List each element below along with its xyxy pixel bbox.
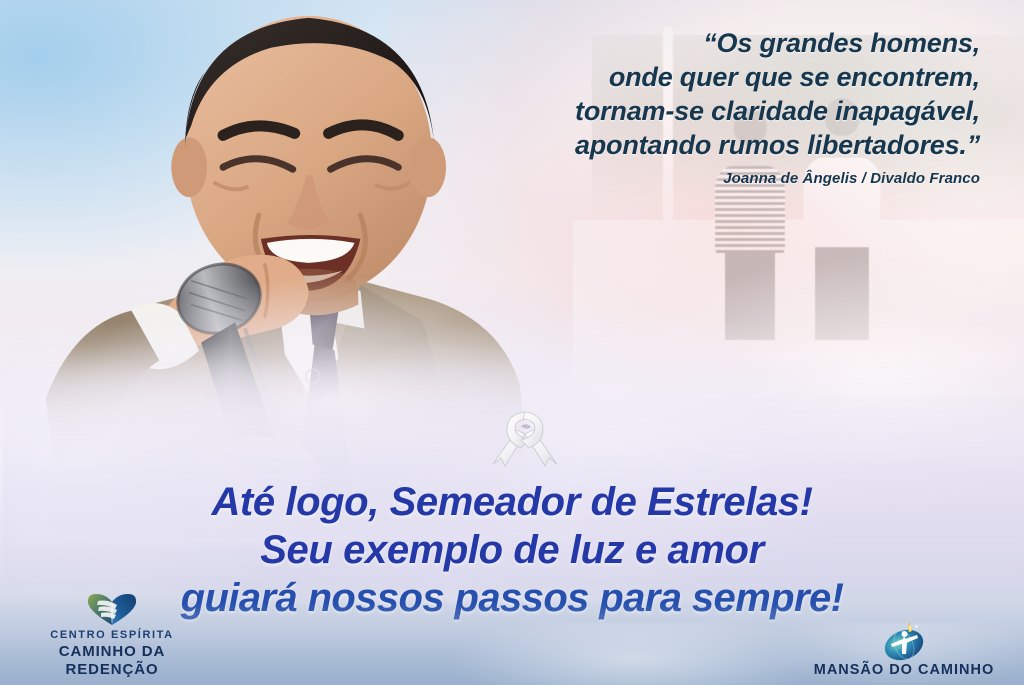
white-ribbon-icon — [487, 404, 563, 482]
logo-mansao-do-caminho: MANSÃO DO CAMINHO — [798, 622, 1010, 679]
quote-line-1: “Os grandes homens, — [420, 26, 980, 60]
heart-hands-shape — [86, 592, 138, 626]
headline-line-1: Até logo, Semeador de Estrelas! — [0, 482, 1024, 522]
quote-block: “Os grandes homens, onde quer que se enc… — [420, 26, 980, 162]
logo-left-line-2: CAMINHO DA REDENÇÃO — [14, 643, 210, 679]
quote-attribution: Joanna de Ângelis / Divaldo Franco — [420, 170, 980, 187]
headline-line-2: Seu exemplo de luz e amor — [0, 530, 1024, 570]
heart-hands-icon — [14, 589, 210, 629]
logo-right-line-2: MANSÃO DO CAMINHO — [798, 662, 1010, 679]
globe-figure-shape — [881, 622, 927, 662]
globe-figure-flame-icon — [798, 622, 1010, 662]
memorial-poster: “Os grandes homens, onde quer que se enc… — [0, 0, 1024, 685]
logo-left-line-1: CENTRO ESPÍRITA — [14, 629, 210, 643]
quote-line-4: apontando rumos libertadores.” — [420, 128, 980, 162]
white-ribbon-shape — [487, 404, 563, 482]
quote-line-2: onde quer que se encontrem, — [420, 60, 980, 94]
logo-centro-espirita-caminho-da-redencao: CENTRO ESPÍRITA CAMINHO DA REDENÇÃO — [14, 589, 210, 679]
quote-line-3: tornam-se claridade inapagável, — [420, 94, 980, 128]
